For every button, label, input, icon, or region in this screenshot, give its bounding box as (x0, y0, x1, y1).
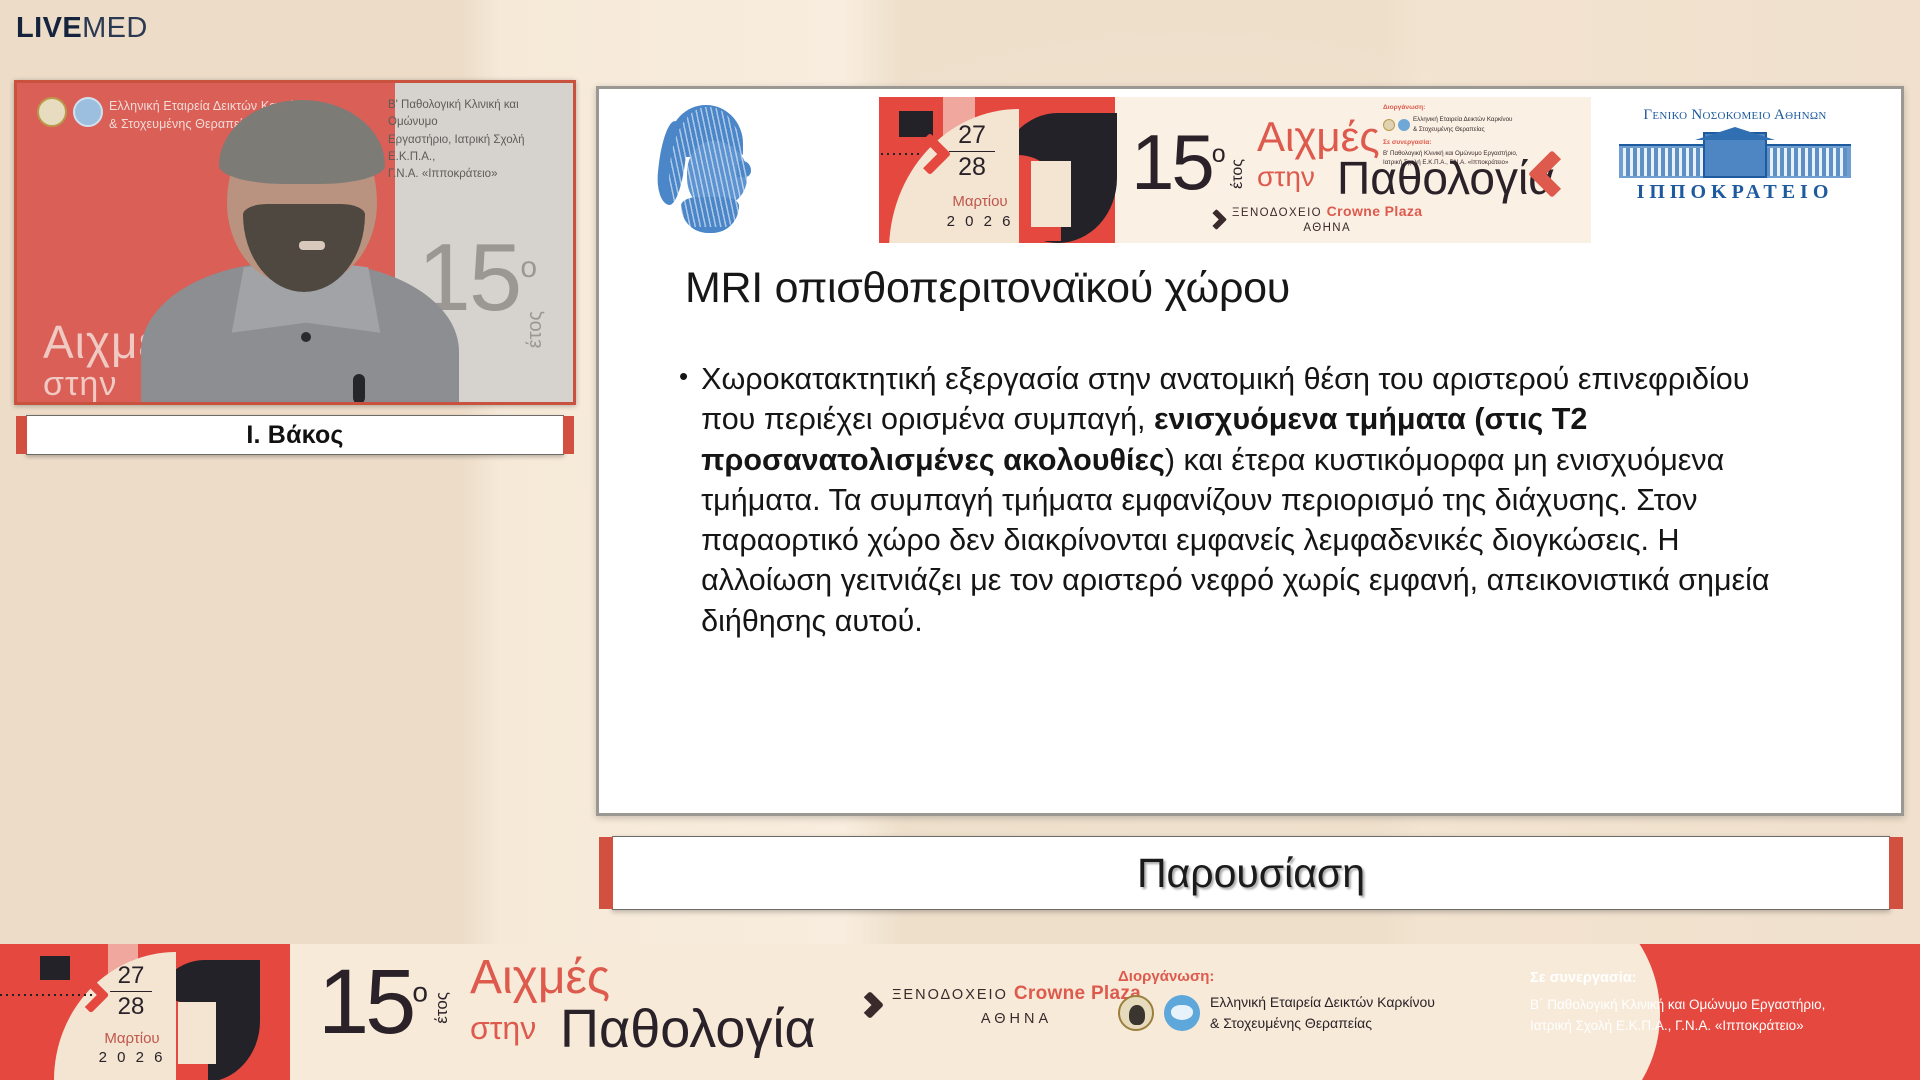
footer-hotel-label: ΞΕΝΟΔΟΧΕΙΟ (892, 987, 1008, 1003)
speaker-hair (219, 100, 385, 184)
hospital-logo: Γενικο Νοσοκομειο Αθηνων ΙΠΠΟΚΡΑΤΕΙΟ (1605, 107, 1865, 204)
footer-pathologia: Παθολογία (560, 1002, 816, 1056)
presentation-slide[interactable]: 27 28 Μαρτίου 2 0 2 6 15o έτος Αιχμές στ… (596, 86, 1904, 816)
papanikolaou-seal-icon (1383, 119, 1395, 131)
banner-org-line2: & Στοχευμένης Θεραπείας (1413, 125, 1512, 135)
footer-date-divider (110, 991, 152, 992)
caption-label: Παρουσίαση (1137, 850, 1365, 897)
athena-head-icon (651, 101, 761, 233)
slide-bullet-item: • Χωροκατακτητική εξεργασία στην ανατομι… (679, 359, 1799, 641)
hospital-building-icon (1619, 130, 1851, 178)
footer-dark-square (40, 956, 70, 980)
crab-logo-icon (73, 97, 103, 127)
footer-banner: 27 28 Μαρτίου 2 0 2 6 15o έτος Αιχμές στ… (0, 944, 1920, 1080)
banner-coop-line1: Β' Παθολογική Κλινική και Ομώνυμο Εργαστ… (1383, 149, 1573, 159)
banner-coop-line2: Ιατρική Σχολή Ε.Κ.Π.Α., Γ.Ν.Α. «Ιπποκράτ… (1383, 158, 1573, 168)
banner-org-row: Ελληνική Εταιρεία Δεικτών Καρκίνου & Στο… (1383, 115, 1573, 134)
hospital-pediment (1695, 127, 1775, 140)
speaker-name-label: Ι. Βάκος (246, 421, 343, 450)
hotel-chevron-icon (1206, 209, 1227, 230)
footer-organizer-block: Διοργάνωση: Ελληνική Εταιρεία Δεικτών Κα… (1118, 968, 1448, 1034)
footer-edition-number: 15o (318, 956, 424, 1048)
footer-num: 15 (318, 951, 412, 1053)
footer-hotel-chevron-icon (856, 991, 884, 1019)
brand-med: MED (82, 12, 148, 44)
conference-banner: 27 28 Μαρτίου 2 0 2 6 15o έτος Αιχμές στ… (879, 97, 1591, 243)
footer-org-names: Ελληνική Εταιρεία Δεικτών Καρκίνου & Στο… (1210, 992, 1435, 1034)
footer-hotel-city: ΑΘΗΝΑ (892, 1009, 1141, 1031)
footer-etos: έτος (432, 992, 452, 1024)
banner-org-key: Διοργάνωση: (1383, 103, 1573, 113)
footer-aixmes: Αιχμές (470, 954, 610, 1002)
slide-body: • Χωροκατακτητική εξεργασία στην ανατομι… (679, 359, 1799, 641)
papanikolaou-seal-icon (1118, 995, 1154, 1031)
speaker-mouth (299, 241, 325, 250)
backdrop-deg: o (520, 251, 535, 284)
speaker-shirt-button (301, 332, 311, 342)
banner-etos: έτος (1229, 159, 1247, 189)
speaker-video-figure (135, 102, 465, 402)
slide-title: MRI οπισθοπεριτοναϊκού χώρου (685, 264, 1290, 313)
footer-cream-block (178, 1002, 216, 1064)
hotel-text: ΞΕΝΟΔΟΧΕΙΟ Crowne Plaza ΑΘΗΝΑ (1232, 202, 1422, 237)
hospital-name-text: ΙΠΠΟΚΡΑΤΕΙΟ (1605, 181, 1865, 204)
footer-stin: στην (470, 1010, 536, 1047)
footer-dates: 27 28 (110, 964, 152, 1019)
footer-org-line2: & Στοχευμένης Θεραπείας (1210, 1013, 1435, 1034)
backdrop-logos (37, 97, 103, 127)
bullet-marker: • (679, 359, 688, 641)
footer-coop-line2: Ιατρική Σχολή Ε.Κ.Π.Α., Γ.Ν.Α. «Ιπποκράτ… (1530, 1015, 1900, 1036)
footer-coop-line1: Β΄ Παθολογική Κλινική και Ομώνυμο Εργαστ… (1530, 994, 1900, 1015)
hospital-top-text: Γενικο Νοσοκομειο Αθηνων (1605, 107, 1865, 124)
footer-coop-names: Β΄ Παθολογική Κλινική και Ομώνυμο Εργαστ… (1530, 994, 1900, 1037)
hotel-label: ΞΕΝΟΔΟΧΕΙΟ (1232, 207, 1322, 219)
footer-year: 2 0 2 6 (92, 1049, 172, 1066)
footer-hotel-info: ΞΕΝΟΔΟΧΕΙΟ Crowne Plaza ΑΘΗΝΑ (860, 980, 1141, 1030)
footer-org-line1: Ελληνική Εταιρεία Δεικτών Καρκίνου (1210, 992, 1435, 1013)
footer-org-row: Ελληνική Εταιρεία Δεικτών Καρκίνου & Στο… (1118, 992, 1448, 1034)
banner-date-divider (949, 151, 995, 152)
banner-month: Μαρτίου (937, 193, 1023, 210)
crab-logo-icon (1398, 119, 1410, 131)
papanikolaou-seal-icon (37, 97, 67, 127)
banner-deg: o (1212, 140, 1223, 168)
banner-org-line1: Ελληνική Εταιρεία Δεικτών Καρκίνου (1413, 115, 1512, 125)
video-player[interactable]: Ελληνική Εταιρεία Δεικτών Καρκίνου & Στο… (14, 80, 576, 405)
footer-hotel-text: ΞΕΝΟΔΟΧΕΙΟ Crowne Plaza ΑΘΗΝΑ (892, 980, 1141, 1030)
footer-day1: 27 (110, 964, 152, 988)
bullet-text: Χωροκατακτητική εξεργασία στην ανατομική… (701, 359, 1799, 641)
banner-day2: 28 (949, 155, 995, 180)
banner-organizer-block: Διοργάνωση: Ελληνική Εταιρεία Δεικτών Κα… (1383, 103, 1573, 168)
banner-dates: 27 28 (949, 123, 995, 180)
footer-month: Μαρτίου (92, 1030, 172, 1047)
footer-coop-key: Σε συνεργασία: (1530, 970, 1900, 986)
hotel-city: ΑΘΗΝΑ (1232, 221, 1422, 237)
footer-org-key: Διοργάνωση: (1118, 968, 1448, 985)
brand-live: LIVE (16, 12, 82, 44)
banner-coop-key: Σε συνεργασία: (1383, 138, 1573, 148)
speaker-name-plate: Ι. Βάκος (26, 415, 564, 455)
crab-logo-icon (1164, 995, 1200, 1031)
presentation-caption-bar: Παρουσίαση (612, 836, 1890, 910)
footer-deg: o (412, 976, 424, 1007)
footer-day2: 28 (110, 995, 152, 1019)
banner-stin: στην (1257, 161, 1315, 193)
banner-hotel-info: ΞΕΝΟΔΟΧΕΙΟ Crowne Plaza ΑΘΗΝΑ (1209, 202, 1422, 237)
slide-header: 27 28 Μαρτίου 2 0 2 6 15o έτος Αιχμές στ… (599, 89, 1901, 249)
hotel-name: Crowne Plaza (1327, 203, 1423, 219)
banner-edition-number: 15o (1131, 123, 1223, 201)
banner-day1: 27 (949, 123, 995, 148)
banner-cream-block (1031, 161, 1071, 227)
banner-org-names: Ελληνική Εταιρεία Δεικτών Καρκίνου & Στο… (1413, 115, 1512, 134)
footer-cooperation-block: Σε συνεργασία: Β΄ Παθολογική Κλινική και… (1530, 970, 1900, 1037)
microphone-icon (353, 374, 365, 404)
banner-year: 2 0 2 6 (937, 213, 1023, 230)
livemed-logo[interactable]: LIVEMED (16, 14, 148, 43)
backdrop-etos: έτος (524, 311, 547, 348)
banner-num: 15 (1131, 118, 1212, 206)
